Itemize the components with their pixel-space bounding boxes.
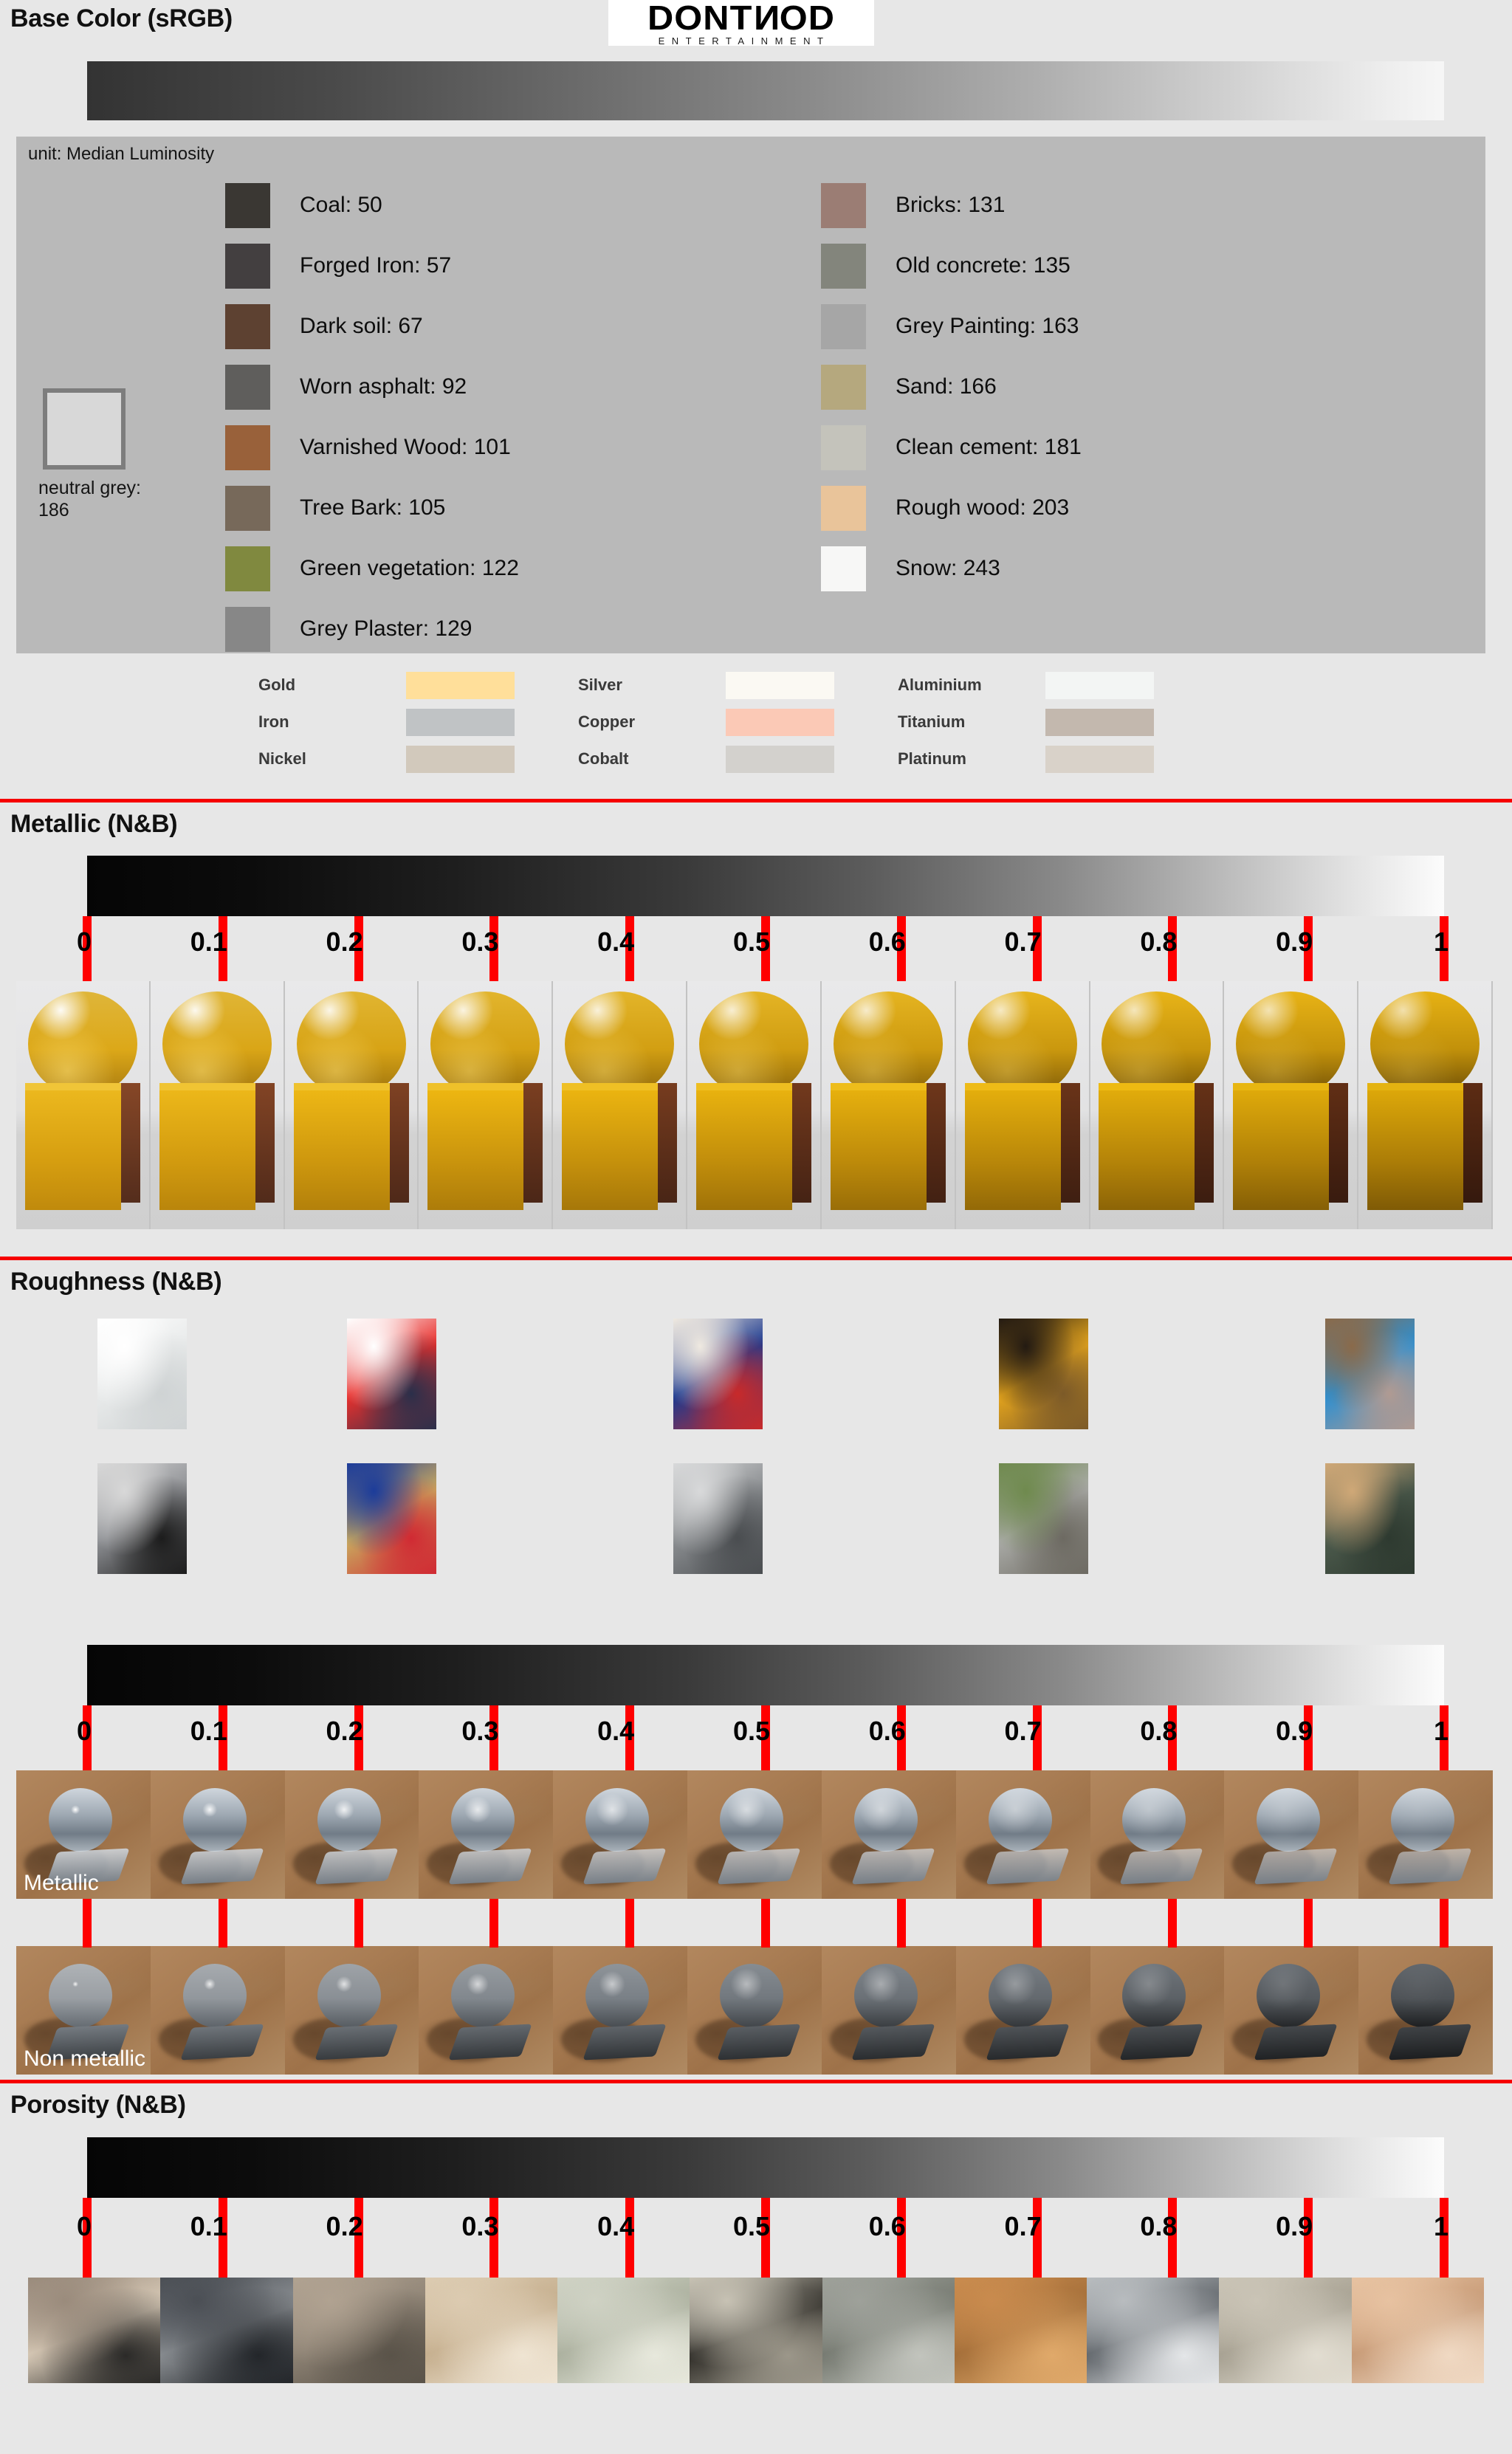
nonmetallic-rough-sample (1224, 1946, 1358, 2075)
photo-content (347, 1319, 436, 1429)
roughness-sphere (1122, 1788, 1186, 1852)
scale-tick (83, 1899, 92, 1948)
base-color-swatch-row: Tree Bark: 105 (225, 478, 519, 538)
roughness-sphere (183, 1788, 247, 1852)
scale-tick-label: 0.4 (597, 2211, 634, 2242)
scale-tick-label: 0.3 (461, 927, 498, 958)
base-color-swatch-row: Clean cement: 181 (821, 417, 1082, 478)
cube-face-front (294, 1090, 390, 1210)
nonmetallic-rough-sample (822, 1946, 956, 2075)
scale-tick-label: 0.9 (1276, 927, 1313, 958)
metallic-sphere (968, 991, 1077, 1096)
cube-face-side (523, 1083, 543, 1203)
porosity-photo-cork-board (955, 2278, 1087, 2383)
roughness-photo-steel-colander (673, 1463, 763, 1574)
nonmetallic-rough-sample (1358, 1946, 1493, 2075)
sphere-base-plate (449, 2024, 532, 2060)
metallic-cube (1233, 1083, 1348, 1210)
scale-tick-label: 0.7 (1005, 2211, 1042, 2242)
scale-tick-label: 0.7 (1005, 1716, 1042, 1747)
color-chip-grey-painting (821, 304, 866, 349)
nonmetallic-rough-sample (419, 1946, 553, 2075)
sphere-base-plate (717, 2024, 800, 2060)
metallic-sample (553, 981, 687, 1229)
metallic-cube (294, 1083, 409, 1210)
base-color-swatch-label: Forged Iron: 57 (300, 253, 451, 278)
cube-face-front (159, 1090, 255, 1210)
roughness-sphere (585, 1964, 649, 2027)
metallic-gradient-bar (87, 856, 1444, 916)
roughness-sphere (49, 1964, 112, 2027)
caption-non-metallic: Non metallic (24, 2046, 145, 2072)
metal-cell-nickel: Nickel (258, 746, 578, 773)
porosity-photo-limestone (425, 2278, 557, 2383)
cube-face-side (1463, 1083, 1482, 1203)
cube-face-front (1367, 1090, 1463, 1210)
metal-name-label: Nickel (258, 749, 406, 769)
roughness-photo-blue-eraser (1325, 1319, 1415, 1429)
metallic-scale-ruler: 00.10.20.30.40.50.60.70.80.91 (0, 856, 1512, 981)
metallic-cube (831, 1083, 946, 1210)
metal-cell-iron: Iron (258, 709, 578, 736)
scale-tick-label: 0.3 (461, 2211, 498, 2242)
roughness-sphere (720, 1964, 783, 2027)
color-chip-old-concrete (821, 244, 866, 289)
nonmetallic-rough-sample (1090, 1946, 1225, 2075)
metal-row: NickelCobaltPlatinum (258, 740, 1218, 777)
scale-tick-label: 0.5 (733, 927, 770, 958)
color-chip-tree-bark (225, 486, 270, 531)
photo-content (97, 1319, 187, 1429)
base-color-swatch-label: Green vegetation: 122 (300, 556, 519, 581)
base-color-swatch-row: Coal: 50 (225, 175, 519, 236)
scale-tick (1440, 1899, 1449, 1948)
metallic-sphere (1102, 991, 1211, 1096)
metallic-cube (562, 1083, 677, 1210)
sphere-base-plate (449, 1848, 532, 1884)
base-color-swatch-label: Worn asphalt: 92 (300, 374, 467, 399)
metal-reference-table: GoldSilverAluminiumIronCopperTitaniumNic… (258, 667, 1218, 800)
roughness-sphere (989, 1964, 1052, 2027)
cube-face-side (1195, 1083, 1214, 1203)
metal-name-label: Gold (258, 676, 406, 695)
color-chip-bricks (821, 183, 866, 228)
metallic-rough-sample (419, 1770, 553, 1899)
color-chip-coal (225, 183, 270, 228)
porosity-photo-layered-rock (28, 2278, 160, 2383)
metallic-sample (687, 981, 822, 1229)
roughness-nonmetallic-sphere-strip: Non metallic (16, 1946, 1493, 2075)
scale-tick-label: 0.4 (597, 1716, 634, 1747)
metallic-rough-sample (285, 1770, 419, 1899)
metallic-cube (427, 1083, 543, 1210)
cube-face-front (562, 1090, 658, 1210)
roughness-sphere (49, 1788, 112, 1852)
metal-chip-platinum (1045, 746, 1154, 773)
pbr-calibration-chart: DONTNOD ENTERTAINMENT Base Color (sRGB) … (0, 0, 1512, 2454)
color-chip-grey-plaster (225, 607, 270, 652)
scale-tick-label: 1 (1434, 927, 1449, 958)
base-color-swatch-row: Snow: 243 (821, 538, 1082, 599)
base-color-swatch-label: Bricks: 131 (896, 193, 1005, 218)
base-color-swatch-row: Varnished Wood: 101 (225, 417, 519, 478)
nonmetallic-rough-sample (553, 1946, 687, 2075)
scale-tick (897, 1899, 906, 1948)
scale-tick-label: 0.8 (1140, 927, 1177, 958)
roughness-photo-old-coins (1325, 1463, 1415, 1574)
metal-chip-cobalt (726, 746, 834, 773)
base-color-swatch-label: Tree Bark: 105 (300, 495, 445, 520)
metal-chip-silver (726, 672, 834, 699)
neutral-grey-label: neutral grey:186 (38, 478, 179, 521)
sphere-base-plate (315, 1848, 398, 1884)
cube-face-side (792, 1083, 811, 1203)
metal-chip-nickel (406, 746, 515, 773)
base-color-swatch-label: Sand: 166 (896, 374, 997, 399)
base-color-gradient-bar (87, 61, 1444, 120)
metallic-sphere (699, 991, 808, 1096)
metal-cell-titanium: Titanium (898, 709, 1217, 736)
scale-tick (219, 1899, 227, 1948)
metallic-rough-sample (1224, 1770, 1358, 1899)
divider-roughness (0, 1257, 1512, 1260)
sphere-base-plate (180, 2024, 264, 2060)
cube-face-side (255, 1083, 275, 1203)
porosity-photo-wet-rock (1087, 2278, 1219, 2383)
sphere-base-plate (717, 1848, 800, 1884)
metal-name-label: Copper (578, 712, 726, 732)
base-color-swatch-row: Old concrete: 135 (821, 236, 1082, 296)
metal-cell-cobalt: Cobalt (578, 746, 898, 773)
base-color-swatch-row: Green vegetation: 122 (225, 538, 519, 599)
metallic-rough-sample (1090, 1770, 1225, 1899)
porosity-photo-strip (28, 2278, 1484, 2383)
scale-tick (1033, 1899, 1042, 1948)
metallic-sample (956, 981, 1090, 1229)
scale-tick-label: 0.7 (1005, 927, 1042, 958)
base-color-swatch-label: Coal: 50 (300, 193, 382, 218)
roughness-photo-chrome-sphere (97, 1463, 187, 1574)
metal-chip-iron (406, 709, 515, 736)
metallic-cube (1099, 1083, 1214, 1210)
neutral-grey-swatch (43, 388, 126, 470)
sphere-base-plate (1254, 2024, 1338, 2060)
sphere-base-plate (1254, 1848, 1338, 1884)
scale-tick-label: 0.1 (190, 2211, 227, 2242)
base-color-column-right: Bricks: 131Old concrete: 135Grey Paintin… (821, 175, 1082, 599)
roughness-metallic-sphere-strip: Metallic (16, 1770, 1493, 1899)
scale-tick (1168, 1899, 1177, 1948)
photo-content (97, 1463, 187, 1574)
base-color-swatch-row: Rough wood: 203 (821, 478, 1082, 538)
metallic-sample (419, 981, 553, 1229)
sphere-base-plate (986, 2024, 1069, 2060)
metallic-cube (1367, 1083, 1482, 1210)
cube-face-side (390, 1083, 409, 1203)
scale-tick (625, 1899, 634, 1948)
roughness-sphere (720, 1788, 783, 1852)
section-title-metallic: Metallic (N&B) (10, 810, 177, 839)
photo-content (1325, 1463, 1415, 1574)
roughness-sphere (451, 1964, 515, 2027)
roughness-photo-gold-pen-barrel (347, 1463, 436, 1574)
metallic-cube (965, 1083, 1080, 1210)
roughness-photo-red-gift-bow (347, 1319, 436, 1429)
porosity-photo-gravel (822, 2278, 955, 2383)
scale-tick-label: 0 (77, 1716, 92, 1747)
scale-tick-label: 0.3 (461, 1716, 498, 1747)
unit-label: unit: Median Luminosity (28, 144, 214, 165)
metallic-sphere (834, 991, 943, 1096)
sphere-base-plate (583, 2024, 666, 2060)
cube-face-front (427, 1090, 523, 1210)
divider-metallic (0, 799, 1512, 802)
base-color-swatch-label: Clean cement: 181 (896, 435, 1082, 460)
logo-wordmark: DONTNOD (608, 1, 874, 35)
cube-face-side (1061, 1083, 1080, 1203)
porosity-photo-wet-clay-pot (557, 2278, 690, 2383)
metallic-sphere (1370, 991, 1480, 1096)
porosity-photo-speckled-stone (293, 2278, 425, 2383)
color-chip-clean-cement (821, 425, 866, 470)
metallic-rough-sample (956, 1770, 1090, 1899)
sphere-base-plate (1120, 1848, 1203, 1884)
scale-tick-label: 0.1 (190, 1716, 227, 1747)
sphere-base-plate (1388, 1848, 1471, 1884)
base-color-swatch-row: Grey Plaster: 129 (225, 599, 519, 659)
porosity-photo-slate-stack (160, 2278, 292, 2383)
scale-tick-label: 0.1 (190, 927, 227, 958)
base-color-swatch-row: Grey Painting: 163 (821, 296, 1082, 357)
roughness-sphere (1122, 1964, 1186, 2027)
color-chip-snow (821, 546, 866, 591)
roughness-sphere (989, 1788, 1052, 1852)
cube-face-side (1329, 1083, 1348, 1203)
scale-tick-label: 0.4 (597, 927, 634, 958)
scale-tick-label: 0.6 (869, 2211, 906, 2242)
metal-chip-titanium (1045, 709, 1154, 736)
cube-face-front (831, 1090, 927, 1210)
metallic-sphere (28, 991, 137, 1096)
base-color-swatch-label: Varnished Wood: 101 (300, 435, 511, 460)
base-color-swatch-label: Dark soil: 67 (300, 314, 423, 339)
metallic-sample (1358, 981, 1493, 1229)
photo-content (673, 1463, 763, 1574)
base-color-swatch-row: Dark soil: 67 (225, 296, 519, 357)
metallic-sphere (1236, 991, 1345, 1096)
roughness-sphere (1391, 1964, 1454, 2027)
metallic-sample (822, 981, 956, 1229)
nonmetallic-rough-sample (151, 1946, 285, 2075)
roughness-sphere (317, 1788, 381, 1852)
base-color-swatch-row: Sand: 166 (821, 357, 1082, 417)
sphere-base-plate (851, 1848, 935, 1884)
metallic-rough-sample (553, 1770, 687, 1899)
roughness-photo-pens-on-paper (673, 1319, 763, 1429)
scale-tick-label: 0.8 (1140, 2211, 1177, 2242)
metal-name-label: Iron (258, 712, 406, 732)
nonmetallic-rough-sample (956, 1946, 1090, 2075)
cube-face-front (1233, 1090, 1329, 1210)
sphere-base-plate (1120, 2024, 1203, 2060)
metal-row: GoldSilverAluminium (258, 667, 1218, 704)
porosity-photo-terracotta-box (1352, 2278, 1484, 2383)
cube-face-front (25, 1090, 121, 1210)
metallic-sphere (565, 991, 674, 1096)
roughness-sphere (451, 1788, 515, 1852)
cube-face-front (965, 1090, 1061, 1210)
photo-content (673, 1319, 763, 1429)
base-color-column-left: Coal: 50Forged Iron: 57Dark soil: 67Worn… (225, 175, 519, 659)
base-color-swatch-row: Bricks: 131 (821, 175, 1082, 236)
sphere-base-plate (583, 1848, 666, 1884)
photo-content (1325, 1319, 1415, 1429)
metallic-render-strip (16, 981, 1493, 1229)
color-chip-varnished-wood (225, 425, 270, 470)
metallic-sample (151, 981, 285, 1229)
metal-name-label: Platinum (898, 749, 1045, 769)
sphere-base-plate (180, 1848, 264, 1884)
sphere-base-plate (851, 2024, 935, 2060)
cube-face-side (658, 1083, 677, 1203)
scale-tick-label: 0.6 (869, 927, 906, 958)
roughness-sphere (854, 1788, 918, 1852)
scale-tick-label: 0.6 (869, 1716, 906, 1747)
section-title-roughness: Roughness (N&B) (10, 1268, 221, 1296)
cube-face-front (696, 1090, 792, 1210)
scale-tick-label: 1 (1434, 1716, 1449, 1747)
metallic-sample (1224, 981, 1358, 1229)
scale-tick (354, 1899, 363, 1948)
scale-tick-label: 0.9 (1276, 1716, 1313, 1747)
roughness-gradient-bar (87, 1645, 1444, 1705)
scale-tick-label: 0.9 (1276, 2211, 1313, 2242)
metallic-sample (16, 981, 151, 1229)
metal-cell-platinum: Platinum (898, 746, 1217, 773)
sphere-base-plate (986, 1848, 1069, 1884)
roughness-scale-ruler: 00.10.20.30.40.50.60.70.80.91 (0, 1645, 1512, 1770)
porosity-gradient-bar (87, 2137, 1444, 2198)
roughness-photo-metal-plant-pot (999, 1463, 1088, 1574)
scale-tick-label: 0.5 (733, 1716, 770, 1747)
scale-tick-label: 0.2 (326, 2211, 363, 2242)
metallic-rough-sample (1358, 1770, 1493, 1899)
roughness-sphere (1391, 1788, 1454, 1852)
sphere-base-plate (1388, 2024, 1471, 2060)
metal-cell-silver: Silver (578, 672, 898, 699)
color-chip-dark-soil (225, 304, 270, 349)
color-chip-rough-wood (821, 486, 866, 531)
metal-name-label: Aluminium (898, 676, 1045, 695)
caption-metallic: Metallic (24, 1871, 99, 1896)
cube-face-side (121, 1083, 140, 1203)
scale-tick-label: 0.8 (1140, 1716, 1177, 1747)
roughness-sphere (854, 1964, 918, 2027)
scale-tick-label: 0.2 (326, 927, 363, 958)
color-chip-worn-asphalt (225, 365, 270, 410)
metal-cell-aluminium: Aluminium (898, 672, 1217, 699)
metal-cell-gold: Gold (258, 672, 578, 699)
base-color-panel: unit: Median Luminosity neutral grey:186… (16, 137, 1485, 653)
logo-subtitle: ENTERTAINMENT (608, 36, 874, 46)
cube-face-front (1099, 1090, 1195, 1210)
color-chip-green-vegetation (225, 546, 270, 591)
metal-chip-gold (406, 672, 515, 699)
roughness-photo-amber-bottle (999, 1319, 1088, 1429)
base-color-swatch-row: Forged Iron: 57 (225, 236, 519, 296)
section-title-base-color: Base Color (sRGB) (10, 4, 233, 33)
base-color-swatch-label: Old concrete: 135 (896, 253, 1071, 278)
metal-cell-copper: Copper (578, 709, 898, 736)
base-color-swatch-label: Snow: 243 (896, 556, 1000, 581)
roughness-photo-drinking-glass (97, 1319, 187, 1429)
base-color-swatch-label: Grey Painting: 163 (896, 314, 1079, 339)
section-title-porosity: Porosity (N&B) (10, 2091, 186, 2120)
metal-name-label: Cobalt (578, 749, 726, 769)
scale-tick (489, 1899, 498, 1948)
metallic-sphere (162, 991, 272, 1096)
scale-tick (1304, 1899, 1313, 1948)
metal-name-label: Titanium (898, 712, 1045, 732)
metallic-rough-sample (687, 1770, 822, 1899)
sphere-base-plate (315, 2024, 398, 2060)
metallic-sample (285, 981, 419, 1229)
base-color-swatch-row: Worn asphalt: 92 (225, 357, 519, 417)
metal-chip-copper (726, 709, 834, 736)
nonmetallic-rough-sample (687, 1946, 822, 2075)
scale-tick-label: 0 (77, 2211, 92, 2242)
scale-tick (761, 1899, 770, 1948)
metallic-cube (25, 1083, 140, 1210)
porosity-photo-dry-sand-rock (1219, 2278, 1351, 2383)
color-chip-sand (821, 365, 866, 410)
scale-tick-label: 1 (1434, 2211, 1449, 2242)
metal-chip-aluminium (1045, 672, 1154, 699)
scale-tick-label: 0.5 (733, 2211, 770, 2242)
cube-face-side (927, 1083, 946, 1203)
metal-row: IronCopperTitanium (258, 704, 1218, 740)
base-color-swatch-label: Grey Plaster: 129 (300, 616, 472, 642)
metallic-sphere (297, 991, 406, 1096)
photo-content (347, 1463, 436, 1574)
porosity-scale-ruler: 00.10.20.30.40.50.60.70.80.91 (0, 2137, 1512, 2278)
metallic-sample (1090, 981, 1225, 1229)
metallic-cube (696, 1083, 811, 1210)
roughness-sphere (1257, 1964, 1320, 2027)
scale-tick-label: 0.2 (326, 1716, 363, 1747)
nonmetallic-rough-sample (285, 1946, 419, 2075)
metal-name-label: Silver (578, 676, 726, 695)
scale-tick-label: 0 (77, 927, 92, 958)
roughness-sphere (1257, 1788, 1320, 1852)
photo-content (999, 1319, 1088, 1429)
dontnod-logo: DONTNOD ENTERTAINMENT (608, 0, 874, 46)
roughness-sphere (183, 1964, 247, 2027)
photo-content (999, 1463, 1088, 1574)
base-color-swatch-label: Rough wood: 203 (896, 495, 1069, 520)
metallic-cube (159, 1083, 275, 1210)
metallic-rough-sample (151, 1770, 285, 1899)
roughness-sphere (585, 1788, 649, 1852)
divider-porosity (0, 2080, 1512, 2083)
color-chip-forged-iron (225, 244, 270, 289)
metallic-sphere (430, 991, 540, 1096)
roughness-sphere (317, 1964, 381, 2027)
metallic-rough-sample (822, 1770, 956, 1899)
porosity-photo-cracked-mud (690, 2278, 822, 2383)
